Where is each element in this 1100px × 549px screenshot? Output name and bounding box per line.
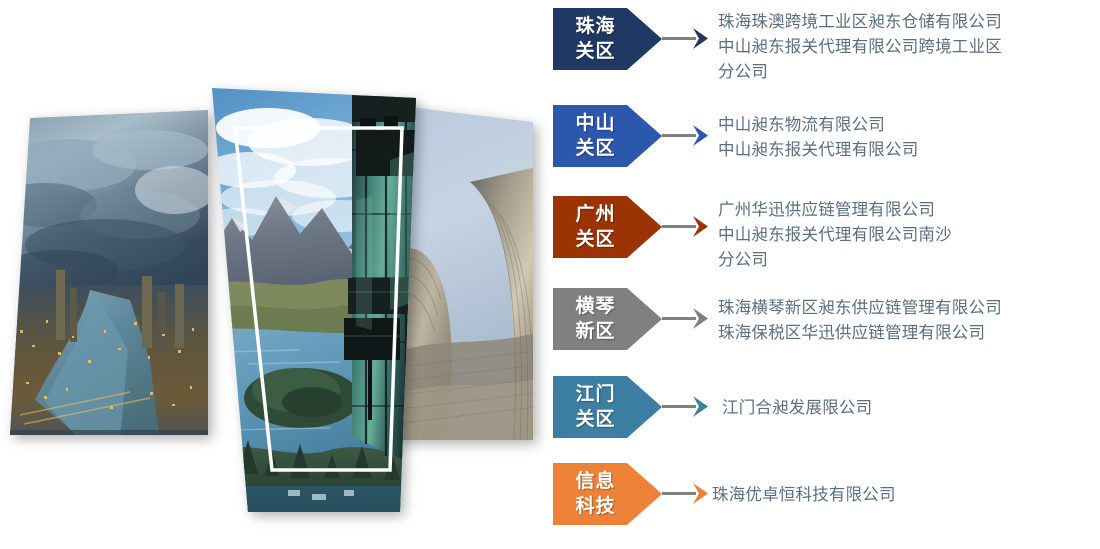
badge-zhongshan[interactable]: 中山 关区: [553, 105, 662, 167]
arrow-shaft: [662, 134, 696, 137]
badge-line: 信息: [575, 469, 639, 494]
region-list: 珠海 关区 珠海珠澳跨境工业区昶东仓储有限公司 中山昶东报关代理有限公司跨境工业…: [550, 0, 1100, 544]
company-name: 中山昶东报关代理有限公司: [718, 138, 1100, 163]
region-row-infotech[interactable]: 信息 科技 珠海优卓恒科技有限公司: [550, 463, 1100, 525]
arrow-shaft: [662, 317, 696, 320]
badge-line: 珠海: [575, 14, 639, 39]
region-row-jiangmen[interactable]: 江门 关区 江门合昶发展限公司: [550, 376, 1100, 438]
company-list-guangzhou: 广州华迅供应链管理有限公司 中山昶东报关代理有限公司南沙 分公司: [710, 196, 1100, 273]
arrow-shaft: [662, 405, 696, 408]
collage-svg: [0, 0, 550, 544]
arrow-head-icon: [692, 125, 710, 146]
badge-line: 关区: [575, 39, 639, 64]
badge-line: 关区: [575, 407, 639, 432]
badge-line: 中山: [575, 111, 639, 136]
badge-wrap-infotech: 信息 科技: [550, 463, 662, 525]
badge-infotech[interactable]: 信息 科技: [553, 463, 662, 525]
company-name: 广州华迅供应链管理有限公司: [718, 198, 1100, 223]
region-row-zhuhai[interactable]: 珠海 关区 珠海珠澳跨境工业区昶东仓储有限公司 中山昶东报关代理有限公司跨境工业…: [550, 8, 1100, 85]
arrow-head-icon: [692, 216, 710, 237]
collage-panel-city-art: [0, 100, 220, 446]
badge-line: 新区: [575, 319, 639, 344]
company-name: 珠海保税区华迅供应链管理有限公司: [718, 321, 1100, 346]
company-list-jiangmen: 江门合昶发展限公司: [710, 376, 1100, 421]
company-name: 江门合昶发展限公司: [722, 396, 1100, 421]
company-name: 分公司: [718, 60, 1100, 85]
arrow-shaft: [662, 225, 696, 228]
company-name: 中山昶东物流有限公司: [718, 113, 1100, 138]
badge-line: 江门: [575, 382, 639, 407]
badge-line: 关区: [575, 136, 639, 161]
company-list-infotech: 珠海优卓恒科技有限公司: [710, 463, 1100, 508]
arrow-head-icon: [692, 483, 710, 504]
arrow-head-icon: [692, 308, 710, 329]
company-list-hengqin: 珠海横琴新区昶东供应链管理有限公司 珠海保税区华迅供应链管理有限公司: [710, 288, 1100, 346]
region-row-hengqin[interactable]: 横琴 新区 珠海横琴新区昶东供应链管理有限公司 珠海保税区华迅供应链管理有限公司: [550, 288, 1100, 350]
arrow-icon: [662, 288, 710, 350]
badge-zhuhai[interactable]: 珠海 关区: [553, 8, 662, 70]
arrow-icon: [662, 196, 710, 258]
badge-line: 科技: [575, 494, 639, 519]
badge-wrap-hengqin: 横琴 新区: [550, 288, 662, 350]
badge-hengqin[interactable]: 横琴 新区: [553, 288, 662, 350]
badge-wrap-zhuhai: 珠海 关区: [550, 8, 662, 70]
company-name: 珠海优卓恒科技有限公司: [712, 483, 1100, 508]
badge-line: 横琴: [575, 294, 639, 319]
arrow-head-icon: [692, 28, 710, 49]
photo-collage: [0, 0, 550, 544]
badge-wrap-zhongshan: 中山 关区: [550, 105, 662, 167]
badge-wrap-guangzhou: 广州 关区: [550, 196, 662, 258]
badge-wrap-jiangmen: 江门 关区: [550, 376, 662, 438]
badge-jiangmen[interactable]: 江门 关区: [553, 376, 662, 438]
company-name: 珠海横琴新区昶东供应链管理有限公司: [718, 296, 1100, 321]
arrow-icon: [662, 8, 710, 70]
company-list-zhongshan: 中山昶东物流有限公司 中山昶东报关代理有限公司: [710, 105, 1100, 163]
badge-line: 广州: [575, 202, 639, 227]
arrow-icon: [662, 376, 710, 438]
arrow-head-icon: [692, 396, 710, 417]
company-name: 分公司: [718, 248, 1100, 273]
badge-guangzhou[interactable]: 广州 关区: [553, 196, 662, 258]
arrow-shaft: [662, 492, 696, 495]
badge-line: 关区: [575, 227, 639, 252]
arrow-icon: [662, 105, 710, 167]
company-name: 珠海珠澳跨境工业区昶东仓储有限公司: [718, 10, 1100, 35]
region-row-guangzhou[interactable]: 广州 关区 广州华迅供应链管理有限公司 中山昶东报关代理有限公司南沙 分公司: [550, 196, 1100, 273]
arrow-shaft: [662, 37, 696, 40]
region-row-zhongshan[interactable]: 中山 关区 中山昶东物流有限公司 中山昶东报关代理有限公司: [550, 105, 1100, 167]
company-name: 中山昶东报关代理有限公司南沙: [718, 223, 1100, 248]
arrow-icon: [662, 463, 710, 525]
company-name: 中山昶东报关代理有限公司跨境工业区: [718, 35, 1100, 60]
company-list-zhuhai: 珠海珠澳跨境工业区昶东仓储有限公司 中山昶东报关代理有限公司跨境工业区 分公司: [710, 8, 1100, 85]
